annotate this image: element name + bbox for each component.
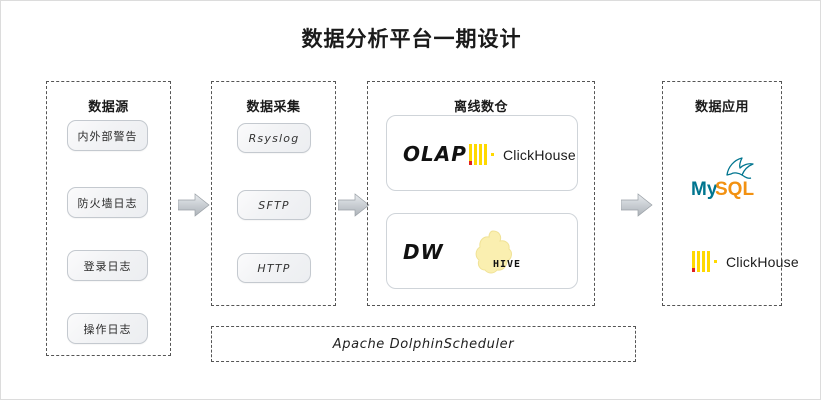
mysql-logo-text-my: My [691,179,718,199]
warehouse-card-dw-label: DW [403,240,444,264]
clickhouse-logo-application: ClickHouse [692,251,799,272]
source-item-login-log[interactable]: 登录日志 [67,250,148,281]
arrow-collection-to-warehouse [338,192,370,218]
hive-logo-text: HIVE [493,259,521,270]
scheduler-label: Apache DolphinScheduler [333,337,514,352]
collection-item-http[interactable]: HTTP [237,253,311,283]
clickhouse-logo: ClickHouse [469,144,576,165]
collection-item-rsyslog[interactable]: Rsyslog [237,123,311,153]
page-title: 数据分析平台一期设计 [1,23,821,53]
mysql-logo-text-sql: SQL [715,179,754,199]
clickhouse-logo-text: ClickHouse [503,147,576,163]
source-item-firewall-log[interactable]: 防火墙日志 [67,187,148,218]
source-item-internal-external-alert[interactable]: 内外部警告 [67,120,148,151]
arrow-warehouse-to-application [621,192,653,218]
mysql-logo: My SQL [690,153,764,199]
mysql-dolphin-icon [727,158,753,178]
stage-title-offline-warehouse: 离线数仓 [368,96,594,115]
arrow-source-to-collection [178,192,210,218]
warehouse-card-olap-label: OLAP [403,142,467,166]
stage-title-data-application: 数据应用 [663,96,781,115]
stage-title-data-collection: 数据采集 [212,96,335,115]
stage-title-data-source: 数据源 [47,96,170,115]
diagram-canvas: 数据分析平台一期设计 数据源 内外部警告 防火墙日志 登录日志 操作日志 数据采… [0,0,821,400]
clickhouse-logo-text: ClickHouse [726,254,799,270]
collection-item-sftp[interactable]: SFTP [237,190,311,220]
clickhouse-bars-icon [692,251,719,272]
scheduler-bar[interactable]: Apache DolphinScheduler [211,326,636,362]
source-item-operation-log[interactable]: 操作日志 [67,313,148,344]
clickhouse-bars-icon [469,144,496,165]
